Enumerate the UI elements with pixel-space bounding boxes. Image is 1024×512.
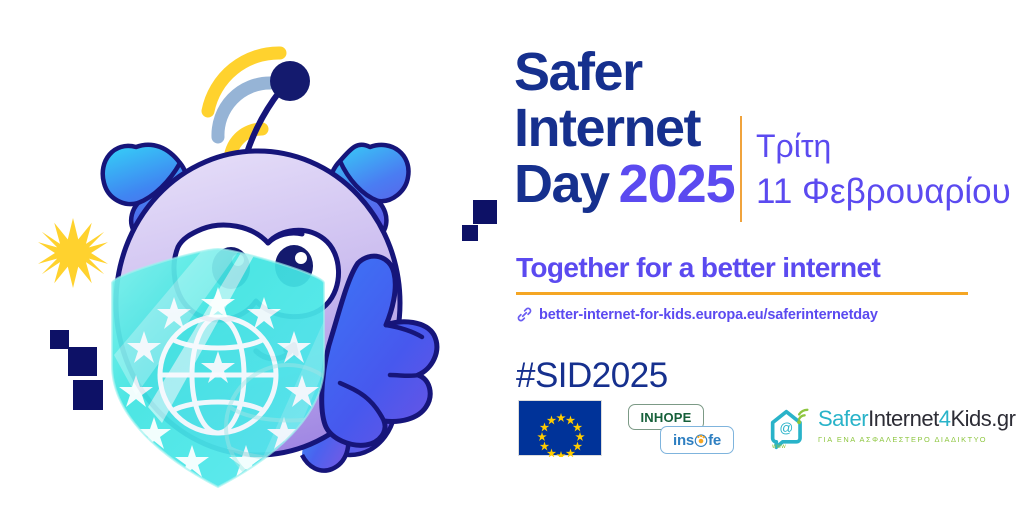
eu-flag-logo xyxy=(518,400,602,456)
eu-stars-icon xyxy=(519,401,603,457)
date-full: 11 Φεβρουαρίου xyxy=(756,169,1011,215)
slogan-text: Together for a better internet xyxy=(516,252,971,284)
banner-content: Safer Internet Day 2025 Τρίτη 11 Φεβρουα… xyxy=(512,0,1024,512)
sid2025-banner: Safer Internet Day 2025 Τρίτη 11 Φεβρουα… xyxy=(0,0,1024,512)
title-line-3: Day xyxy=(514,156,609,212)
sik-part-safer: Safer xyxy=(818,406,868,431)
link-icon xyxy=(516,306,533,323)
saferinternet4kids-tagline: ΓΙΑ ΕΝΑ ΑΣΦΑΛΕΣΤΕΡΟ ΔΙΑΔΙΚΤΥΟ xyxy=(818,435,1015,444)
sik-part-four: 4 xyxy=(939,406,951,431)
saferinternet4kids-logo: @ www SaferInternet4Kids.gr ΓΙΑ ΕΝΑ ΑΣΦΑ… xyxy=(768,400,990,456)
hashtag: #SID2025 xyxy=(516,356,668,396)
website-url-text: better-internet-for-kids.europa.eu/safer… xyxy=(539,307,878,323)
slogan-divider xyxy=(516,292,968,295)
title-year: 2025 xyxy=(619,156,735,212)
partner-logos: INHOPE ins fe xyxy=(518,400,990,456)
saferinternet4kids-icon: @ www xyxy=(768,408,812,450)
title-line-1: Safer xyxy=(514,44,1024,100)
event-date: Τρίτη 11 Φεβρουαρίου xyxy=(740,116,1011,222)
sik-part-kids: Kids xyxy=(950,406,991,431)
sik-part-gr: .gr xyxy=(991,406,1015,431)
saferinternet4kids-name: SaferInternet4Kids.gr xyxy=(818,406,1015,432)
date-weekday: Τρίτη xyxy=(756,123,1011,169)
www-label: www xyxy=(771,444,786,450)
inhope-label: INHOPE xyxy=(640,410,691,425)
insafe-label-post: fe xyxy=(708,432,721,449)
sik-part-internet: Internet xyxy=(868,406,939,431)
insafe-at-icon xyxy=(694,433,708,447)
website-url[interactable]: better-internet-for-kids.europa.eu/safer… xyxy=(516,306,878,323)
insafe-logo: ins fe xyxy=(660,426,734,454)
svg-text:@: @ xyxy=(779,421,793,436)
sid-mascot-character xyxy=(40,35,510,495)
inhope-insafe-logos: INHOPE ins fe xyxy=(628,400,736,456)
insafe-label-pre: ins xyxy=(673,432,694,449)
